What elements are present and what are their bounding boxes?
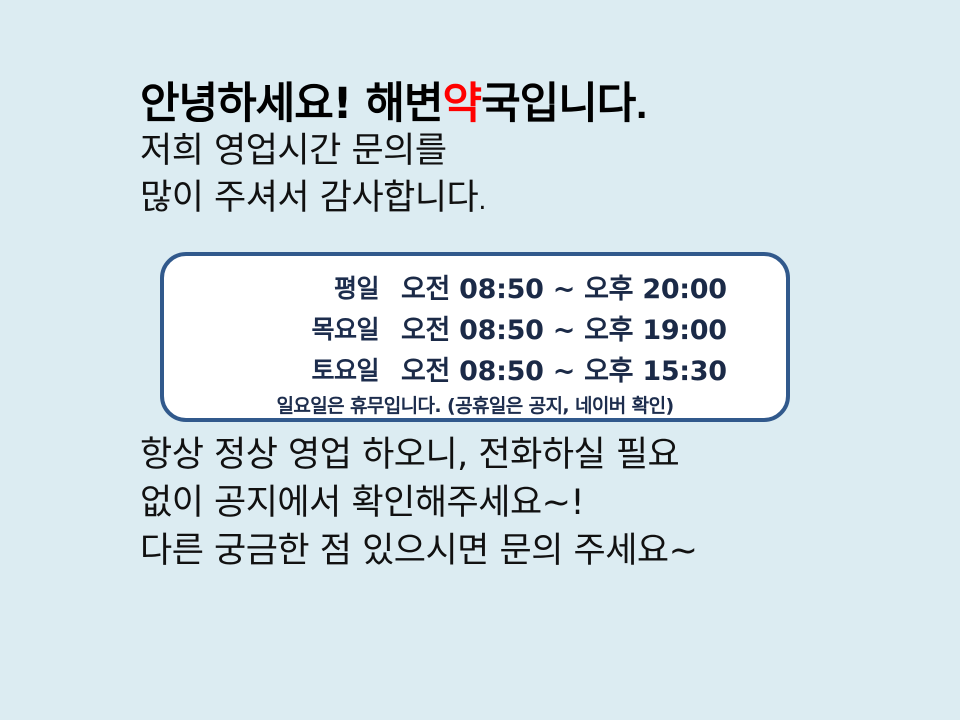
footer-line-1: 항상 정상 영업 하오니, 전화하실 필요 xyxy=(140,432,920,480)
hours-time-value: 오전 08:50 ~ 오후 19:00 xyxy=(401,307,786,348)
title-period: . xyxy=(635,87,647,126)
footer-line-3: 다른 궁금한 점 있으시면 문의 주세요~ xyxy=(140,528,920,576)
footer-message-block: 항상 정상 영업 하오니, 전화하실 필요 없이 공지에서 확인해주세요~! 다… xyxy=(140,432,920,576)
subtitle-line-2: 많이 주셔서 감사합니다. xyxy=(140,175,900,222)
subtitle-line-2-period: . xyxy=(478,186,486,216)
poster-title: 안녕하세요! 해변약국입니다. xyxy=(140,80,900,128)
table-row: 목요일 오전 08:50 ~ 오후 19:00 xyxy=(164,307,786,348)
headline-block: 안녕하세요! 해변약국입니다. 저희 영업시간 문의를 많이 주셔서 감사합니다… xyxy=(140,80,900,221)
hours-day-label: 목요일 xyxy=(164,307,401,348)
hours-time-value: 오전 08:50 ~ 오후 20:00 xyxy=(401,266,786,307)
footer-line-2: 없이 공지에서 확인해주세요~! xyxy=(140,480,920,528)
table-row: 평일 오전 08:50 ~ 오후 20:00 xyxy=(164,266,786,307)
business-hours-card: 평일 오전 08:50 ~ 오후 20:00 목요일 오전 08:50 ~ 오후… xyxy=(160,252,790,422)
hours-closed-note: 일요일은 휴무입니다. (공휴일은 공지, 네이버 확인) xyxy=(164,391,786,418)
title-prefix-text: 안녕하세요! 해변 xyxy=(140,79,443,129)
hours-day-label: 평일 xyxy=(164,266,401,307)
pharmacy-hours-poster: 안녕하세요! 해변약국입니다. 저희 영업시간 문의를 많이 주셔서 감사합니다… xyxy=(0,0,960,720)
table-row: 토요일 오전 08:50 ~ 오후 15:30 xyxy=(164,348,786,389)
hours-time-value: 오전 08:50 ~ 오후 15:30 xyxy=(401,348,786,389)
business-hours-table: 평일 오전 08:50 ~ 오후 20:00 목요일 오전 08:50 ~ 오후… xyxy=(164,266,786,389)
subtitle-line-2-text: 많이 주셔서 감사합니다 xyxy=(140,178,478,218)
title-accent-text: 약 xyxy=(443,79,482,129)
hours-day-label: 토요일 xyxy=(164,348,401,389)
title-suffix-text: 국입니다 xyxy=(481,79,635,129)
subtitle-line-1: 저희 영업시간 문의를 xyxy=(140,128,900,175)
